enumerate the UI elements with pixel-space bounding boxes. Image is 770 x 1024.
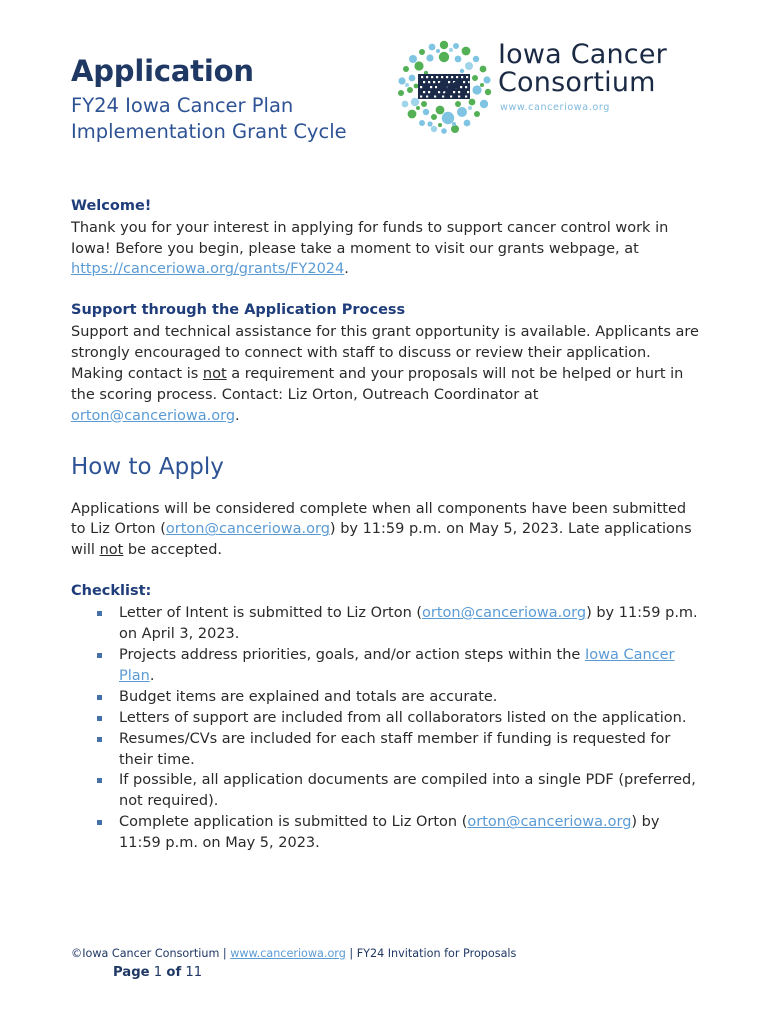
page-label: Page: [113, 965, 150, 980]
logo-dots-icon: [396, 38, 492, 137]
document-footer: ©Iowa Cancer Consortium | www.canceriowa…: [71, 946, 699, 983]
spacer: [71, 561, 699, 581]
list-item: Letters of support are included from all…: [71, 708, 699, 729]
square-bullet-icon: [97, 778, 102, 783]
welcome-text-after: .: [344, 261, 349, 277]
list-item-part1: Letters of support are included from all…: [119, 710, 686, 726]
title-block: Application FY24 Iowa Cancer Plan Implem…: [71, 56, 401, 144]
welcome-paragraph: Thank you for your interest in applying …: [71, 218, 699, 281]
support-heading: Support through the Application Process: [71, 300, 699, 321]
list-item: If possible, all application documents a…: [71, 770, 699, 812]
logo-url: www.canceriowa.org: [500, 102, 708, 113]
square-bullet-icon: [97, 737, 102, 742]
logo-org-name-line1: Iowa Cancer: [498, 39, 667, 70]
support-emphasis-not: not: [203, 366, 227, 382]
of-label: of: [166, 965, 181, 980]
square-bullet-icon: [97, 716, 102, 721]
footer-copyright: ©Iowa Cancer Consortium |: [71, 947, 230, 960]
list-item-link[interactable]: orton@canceriowa.org: [422, 605, 586, 621]
footer-suffix: | FY24 Invitation for Proposals: [346, 947, 517, 960]
list-item-part1: Resumes/CVs are included for each staff …: [119, 731, 670, 768]
document-page: Application FY24 Iowa Cancer Plan Implem…: [0, 0, 770, 1024]
list-item-link[interactable]: orton@canceriowa.org: [467, 814, 631, 830]
logo-text: Iowa Cancer Consortium www.canceriowa.or…: [498, 41, 708, 113]
grants-webpage-link[interactable]: https://canceriowa.org/grants/FY2024: [71, 261, 344, 277]
support-text-part3: .: [235, 408, 240, 424]
page-total: 11: [185, 965, 202, 980]
page-subtitle-line2: Implementation Grant Cycle: [71, 120, 347, 143]
document-header: Application FY24 Iowa Cancer Plan Implem…: [0, 0, 770, 178]
footer-credit-line: ©Iowa Cancer Consortium | www.canceriowa…: [71, 946, 699, 962]
how-to-apply-email-link[interactable]: orton@canceriowa.org: [166, 521, 330, 537]
footer-website-link[interactable]: www.canceriowa.org: [230, 947, 346, 960]
list-item-part1: Projects address priorities, goals, and/…: [119, 647, 585, 663]
page-number-indicator: Page 1 of 11: [113, 964, 699, 982]
list-item: Letter of Intent is submitted to Liz Ort…: [71, 603, 699, 645]
spacer: [71, 483, 699, 499]
page-title: Application: [71, 56, 401, 87]
list-item-part1: Complete application is submitted to Liz…: [119, 814, 467, 830]
welcome-text-before: Thank you for your interest in applying …: [71, 220, 668, 257]
list-item: Complete application is submitted to Liz…: [71, 812, 699, 854]
document-body: Welcome! Thank you for your interest in …: [71, 196, 699, 854]
spacer: [71, 280, 699, 300]
how-to-apply-emphasis-not: not: [100, 542, 124, 558]
logo-org-name-line2: Consortium: [498, 67, 656, 98]
checklist-heading: Checklist:: [71, 581, 699, 602]
welcome-heading: Welcome!: [71, 196, 699, 217]
support-paragraph: Support and technical assistance for thi…: [71, 322, 699, 427]
support-contact-email-link[interactable]: orton@canceriowa.org: [71, 408, 235, 424]
square-bullet-icon: [97, 820, 102, 825]
square-bullet-icon: [97, 695, 102, 700]
how-to-apply-heading: How to Apply: [71, 453, 699, 483]
checklist-list: Letter of Intent is submitted to Liz Ort…: [71, 603, 699, 854]
square-bullet-icon: [97, 653, 102, 658]
page-subtitle: FY24 Iowa Cancer Plan Implementation Gra…: [71, 93, 401, 144]
list-item-part1: Budget items are explained and totals ar…: [119, 689, 497, 705]
list-item-part1: If possible, all application documents a…: [119, 772, 696, 809]
list-item-part2: .: [150, 668, 155, 684]
square-bullet-icon: [97, 611, 102, 616]
list-item: Projects address priorities, goals, and/…: [71, 645, 699, 687]
organization-logo: Iowa Cancer Consortium www.canceriowa.or…: [396, 38, 708, 146]
how-to-apply-paragraph: Applications will be considered complete…: [71, 499, 699, 562]
spacer: [71, 427, 699, 453]
list-item: Budget items are explained and totals ar…: [71, 687, 699, 708]
logo-org-name: Iowa Cancer Consortium: [498, 41, 708, 97]
how-to-apply-part3: be accepted.: [123, 542, 222, 558]
list-item-part1: Letter of Intent is submitted to Liz Ort…: [119, 605, 422, 621]
page-subtitle-line1: FY24 Iowa Cancer Plan: [71, 94, 293, 117]
list-item: Resumes/CVs are included for each staff …: [71, 729, 699, 771]
page-number: 1: [154, 965, 162, 980]
